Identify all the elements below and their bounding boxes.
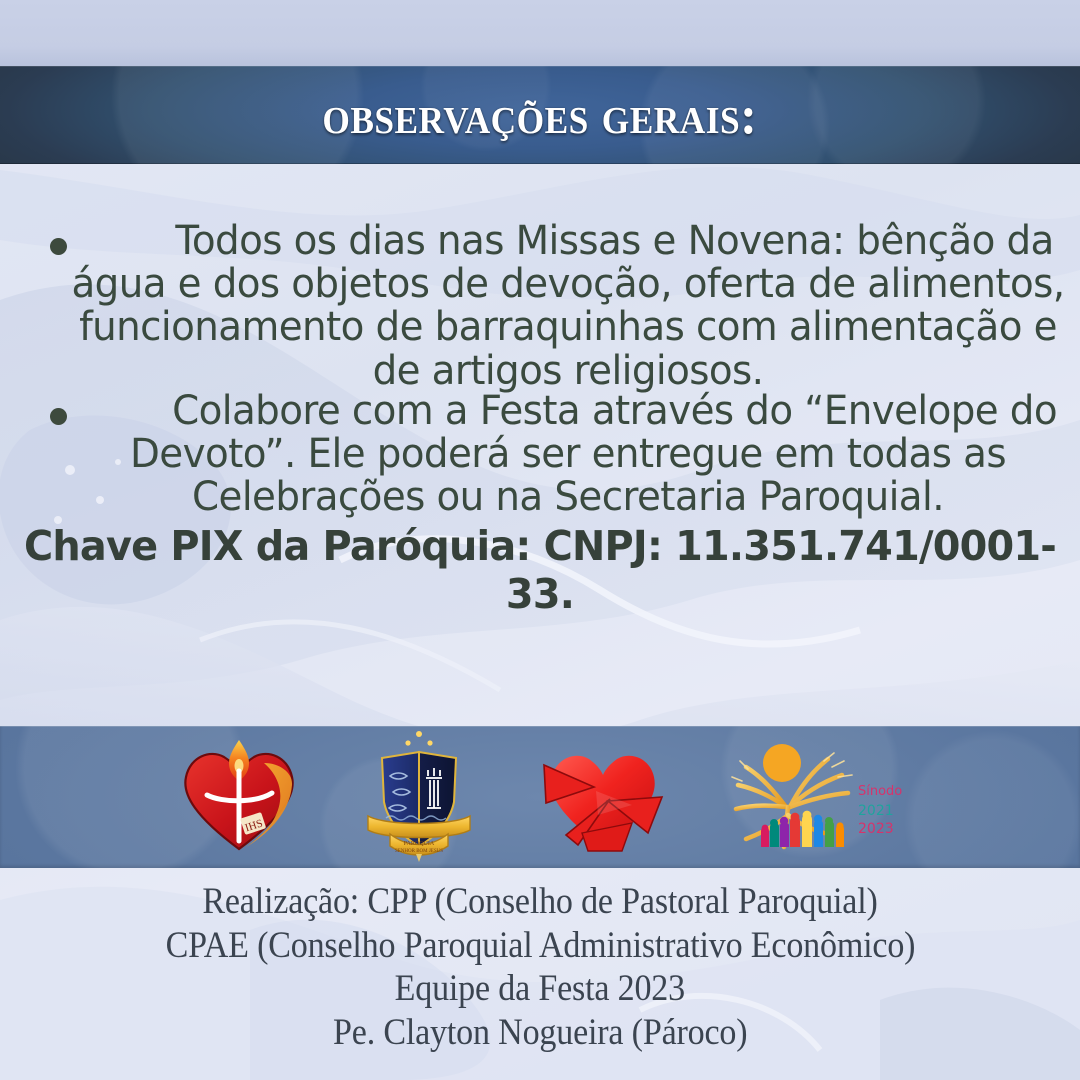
footer-line-realizacao: Realização: CPP (Conselho de Pastoral Pa… — [202, 880, 877, 924]
parish-coat-of-arms-logo: PARÓQUIA SENHOR BOM JESUS — [360, 730, 478, 864]
footer-line-paroco: Pe. Clayton Nogueira (Pároco) — [333, 1011, 747, 1055]
svg-text:SENHOR BOM JESUS: SENHOR BOM JESUS — [395, 849, 443, 854]
logo-band: IHS — [0, 726, 1080, 868]
footer-credits: Realização: CPP (Conselho de Pastoral Pa… — [0, 868, 1080, 1080]
header-band: Observações Gerais: — [0, 66, 1080, 164]
svg-text:PARÓQUIA: PARÓQUIA — [404, 839, 435, 847]
poster-canvas: Observações Gerais: Todos os dias nas Mi… — [0, 0, 1080, 1080]
bullet-text-envelope-devoto: Colabore com a Festa através do “Envelop… — [44, 390, 1080, 520]
footer-line-equipe: Equipe da Festa 2023 — [395, 967, 685, 1011]
synod-people-figures — [761, 811, 844, 847]
bullet-item-daily-activities: Todos os dias nas Missas e Novena: bênçã… — [0, 220, 1080, 393]
sacred-heart-flame-cross-logo: IHS — [176, 737, 302, 857]
synod-caption-year-start: 2021 — [858, 803, 894, 819]
synod-tree-people-logo: Sínodo 2021 2023 — [728, 735, 904, 859]
bullet-text-daily-activities: Todos os dias nas Missas e Novena: bênçã… — [44, 220, 1080, 393]
synod-sun-icon — [763, 744, 801, 782]
synod-caption-year-end: 2023 — [858, 821, 894, 837]
body-content: Todos os dias nas Missas e Novena: bênçã… — [0, 164, 1080, 726]
pix-key-block: Chave PIX da Paróquia: CNPJ: 11.351.741/… — [0, 522, 1080, 618]
red-heart-rays-logo — [536, 741, 670, 853]
bullet-item-envelope-devoto: Colabore com a Festa através do “Envelop… — [0, 390, 1080, 520]
footer-line-cpae: CPAE (Conselho Paroquial Administrativo … — [165, 924, 915, 968]
page-title: Observações Gerais: — [323, 84, 758, 146]
top-strip — [0, 0, 1080, 66]
pix-key-text: Chave PIX da Paróquia: CNPJ: 11.351.741/… — [16, 522, 1064, 618]
synod-caption-word: Sínodo — [858, 784, 902, 799]
